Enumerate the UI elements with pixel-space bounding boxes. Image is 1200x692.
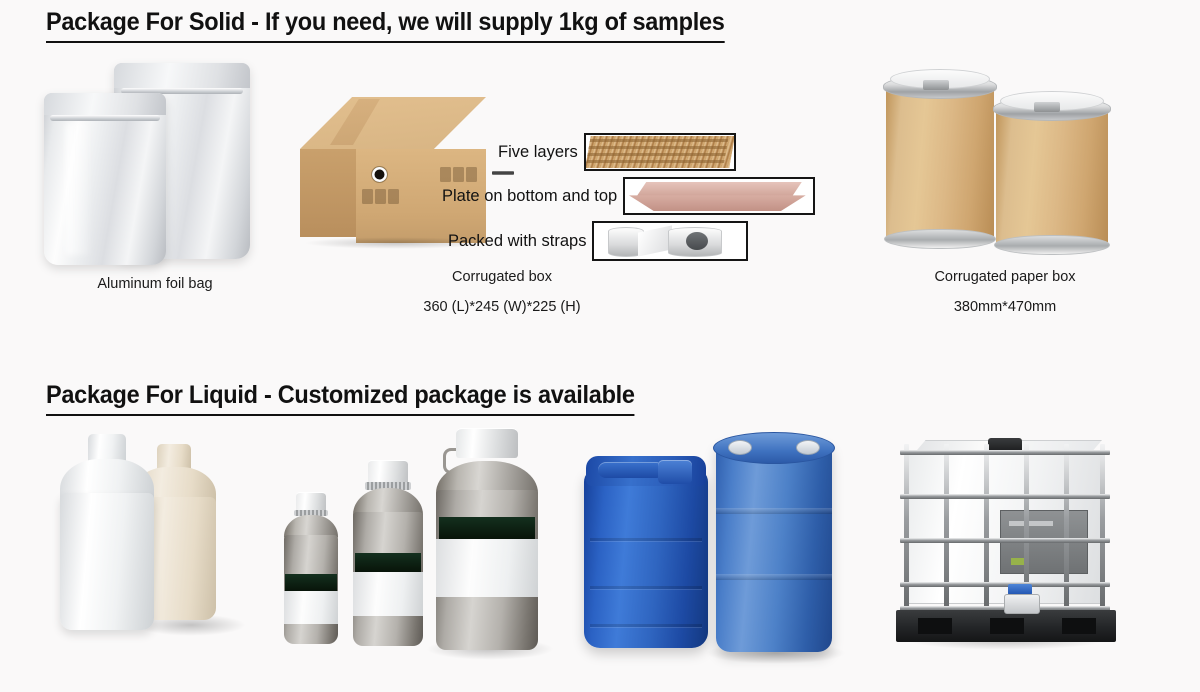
strap-rolls-thumbnail — [592, 221, 748, 261]
annotation-plate-on-bottom-and-top: Plate on bottom and top — [442, 177, 815, 215]
bottle-body — [60, 493, 153, 630]
ibc-pallet — [896, 610, 1116, 642]
pouch-top-band — [114, 63, 250, 88]
drum-body — [996, 105, 1108, 243]
liquid-package-row — [0, 428, 1200, 688]
ibc-cage-bar-horizontal — [900, 450, 1110, 455]
corrugated-box-caption: Corrugated box — [292, 269, 712, 285]
ibc-panel-text-line — [1009, 521, 1053, 526]
aluminum-bottle-medium — [350, 460, 426, 646]
ibc-discharge-valve — [1004, 584, 1038, 614]
five-layer-board-thumbnail — [584, 133, 736, 171]
corrugated-paper-box-item: Corrugated paper box 380mm*470mm — [880, 55, 1130, 335]
aluminum-foil-bag-item: Aluminum foil bag — [30, 55, 280, 335]
drum-bung-right — [796, 440, 820, 455]
box-handling-symbols — [362, 189, 399, 204]
pallet-notch — [918, 618, 952, 634]
blue-plastic-drum — [716, 442, 832, 652]
cardboard-plate-thumbnail — [623, 177, 815, 215]
drum-clamp — [923, 80, 949, 90]
aluminum-bottles-item — [276, 428, 526, 668]
solid-section-heading: Package For Solid - If you need, we will… — [46, 8, 725, 43]
ibc-cage-bar-horizontal — [900, 538, 1110, 543]
fiber-drum-left — [886, 69, 994, 251]
pallet-notch — [1062, 618, 1096, 634]
aluminum-foil-bag-image — [30, 55, 280, 270]
drum-bottom-rim — [884, 229, 996, 249]
box-hand-hole — [372, 167, 387, 182]
blue-plastic-drums-item — [576, 428, 836, 668]
plate-upper — [636, 182, 801, 197]
annotation-label: Packed with straps — [448, 232, 586, 251]
corrugated-box-dimensions: 360 (L)*245 (W)*225 (H) — [292, 299, 712, 315]
liquid-section-heading: Package For Liquid - Customized package … — [46, 381, 635, 416]
solid-package-row: Aluminum foil bag Five layers — [0, 55, 1200, 335]
drum-hoop — [716, 508, 832, 514]
annotation-packed-with-straps: Packed with straps — [448, 221, 748, 261]
box-left-face — [300, 149, 356, 237]
pouch-top-band — [44, 93, 166, 115]
bottle-cap — [456, 428, 518, 458]
annotation-five-layers: Five layers — [498, 133, 736, 171]
label-band — [355, 553, 422, 572]
drum-bottom-rim — [994, 235, 1110, 255]
hdpe-bottles-item — [40, 428, 270, 668]
board-flute-lines — [590, 139, 729, 142]
bottle-label — [436, 539, 537, 597]
ibc-panel-badge — [1011, 558, 1025, 565]
drum-bung-left — [728, 440, 752, 455]
corrugated-paper-box-caption: Corrugated paper box — [880, 269, 1130, 285]
label-band — [439, 517, 536, 539]
drum-hoop — [716, 574, 832, 580]
corrugated-paper-box-dimensions: 380mm*470mm — [880, 299, 1130, 315]
blue-jerrycan — [584, 468, 708, 648]
label-band — [285, 574, 336, 591]
bottle-label — [353, 572, 423, 617]
plate-lower — [629, 195, 806, 211]
bottle-label — [284, 591, 337, 624]
jerrycan-handle — [598, 462, 664, 478]
pouch-zipper — [50, 115, 160, 121]
jerrycan-rib — [590, 624, 702, 627]
jerrycan-rib — [590, 538, 702, 541]
jerrycan-rib — [590, 586, 702, 589]
aluminum-bottle-large — [432, 428, 542, 650]
box-top-face — [300, 97, 486, 149]
annotation-label: Plate on bottom and top — [442, 187, 617, 206]
ibc-tote-image — [892, 434, 1120, 648]
pallet-notch — [990, 618, 1024, 634]
ibc-tote-item — [886, 428, 1136, 668]
annotation-label: Five layers — [498, 143, 578, 162]
corrugated-box-item: Five layers Plate on bottom and top Pack… — [292, 55, 862, 335]
drum-clamp — [1034, 102, 1060, 112]
aluminum-bottle-small — [282, 492, 340, 644]
jerrycan-cap — [658, 460, 692, 484]
aluminum-foil-bag-caption: Aluminum foil bag — [30, 276, 280, 292]
annotation-connector-dash — [492, 171, 514, 175]
foil-pouch-front — [44, 93, 166, 265]
ibc-cage-bar-horizontal — [900, 494, 1110, 499]
pouch-sheen — [66, 124, 93, 255]
valve-body — [1004, 594, 1040, 614]
fiber-drum-right — [996, 91, 1108, 257]
drum-body — [886, 83, 994, 237]
hdpe-bottle-front — [54, 434, 160, 630]
